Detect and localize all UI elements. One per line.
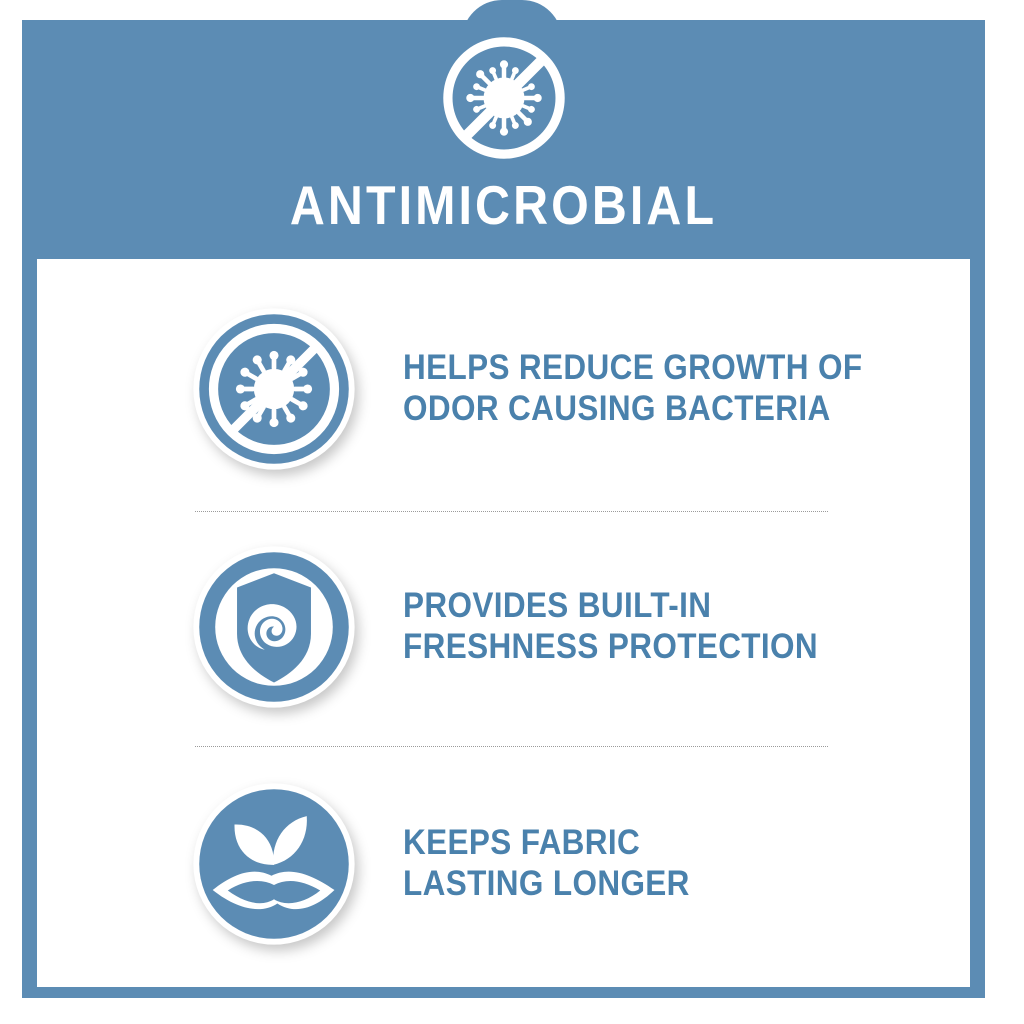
feature-text: KEEPS FABRIC LASTING LONGER: [403, 823, 690, 905]
no-germ-icon: [190, 305, 358, 473]
page-title: ANTIMICROBIAL: [80, 178, 927, 233]
antimicrobial-infographic: ANTIMICROBIAL: [0, 0, 1024, 1024]
feature-list: HELPS REDUCE GROWTH OF ODOR CAUSING BACT…: [37, 259, 970, 987]
poster-header: ANTIMICROBIAL: [22, 20, 985, 259]
row-divider: [195, 511, 828, 513]
feature-text: PROVIDES BUILT-IN FRESHNESS PROTECTION: [403, 586, 818, 668]
feature-row: PROVIDES BUILT-IN FRESHNESS PROTECTION: [37, 527, 970, 727]
content-panel: HELPS REDUCE GROWTH OF ODOR CAUSING BACT…: [37, 259, 970, 987]
no-germ-icon: [438, 32, 570, 164]
leaf-fabric-icon: [190, 780, 358, 948]
feature-text: HELPS REDUCE GROWTH OF ODOR CAUSING BACT…: [403, 348, 862, 430]
shield-swirl-icon: [190, 543, 358, 711]
feature-row: HELPS REDUCE GROWTH OF ODOR CAUSING BACT…: [37, 289, 970, 489]
feature-row: KEEPS FABRIC LASTING LONGER: [37, 764, 970, 964]
row-divider: [195, 746, 828, 748]
